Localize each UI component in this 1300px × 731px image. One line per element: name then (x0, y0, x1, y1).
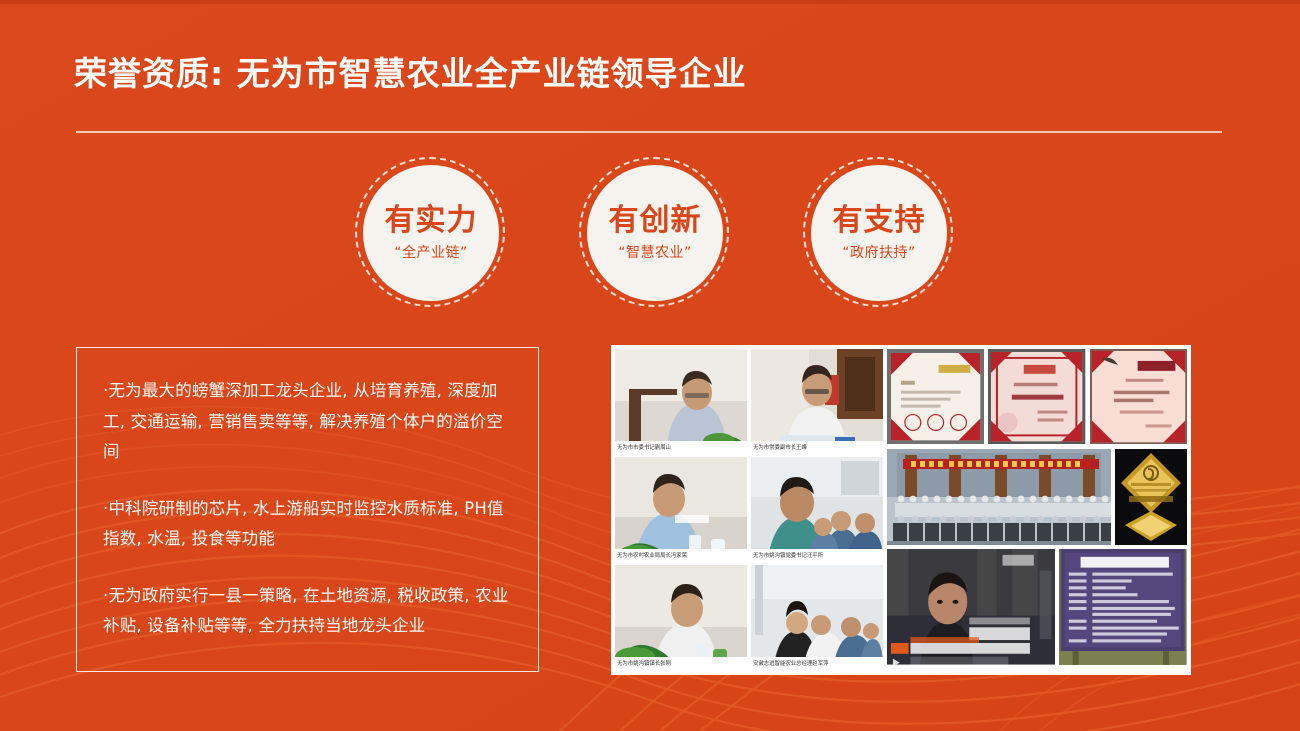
badge-title: 有支持 (833, 204, 926, 237)
official-photo-2[interactable]: 无为市常委副市长王峰 (751, 349, 883, 453)
badge-subtitle: “全产业链” (394, 242, 468, 262)
meeting-photo-icon (615, 457, 747, 561)
photo-caption: 无为市常委副市长王峰 (751, 441, 883, 454)
certificate-icon (887, 349, 984, 444)
highlights-panel: ·无为最大的螃蟹深加工龙头企业, 从培育养殖, 深度加工, 交通运输, 营销售卖… (76, 347, 539, 672)
photo-collage: 无为市市委书记蒯周山 无为市常委副市长王峰 (611, 345, 1191, 675)
certificate-icon (988, 349, 1085, 444)
official-photo-3[interactable]: 无为市农村农业局局长冯家荣 (615, 457, 747, 561)
tv-clip-icon (887, 549, 1055, 665)
badge-group: 有实力 “全产业链” 有创新 “智慧农业” 有支持 “政府扶持” (355, 157, 955, 307)
meeting-photo-icon (751, 349, 883, 453)
meeting-photo-icon (615, 565, 747, 669)
awards-column (887, 349, 1187, 671)
group-trophy-row (887, 449, 1187, 545)
poverty-alleviation-board[interactable] (1059, 549, 1187, 671)
certificate-1[interactable] (887, 349, 984, 445)
official-photo-5[interactable]: 无为市姚沟镇镇长张刚 (615, 565, 747, 669)
official-photo-6[interactable]: 安徽志进智能农业总经理赵军萍 (751, 565, 883, 669)
photo-caption: 无为市姚沟镇党委书记汪平所 (751, 549, 883, 562)
badge-disc: 有实力 “全产业链” (363, 165, 499, 301)
info-board-icon (1059, 549, 1187, 665)
badge-innovation[interactable]: 有创新 “智慧农业” (579, 157, 731, 309)
photo-caption: 无为市姚沟镇镇长张刚 (615, 657, 747, 670)
company-group-photo[interactable] (887, 449, 1111, 545)
trophy-icon (1115, 449, 1187, 545)
badge-disc: 有创新 “智慧农业” (587, 165, 723, 301)
certificate-icon (1090, 349, 1187, 444)
certificate-3[interactable] (1090, 349, 1187, 445)
group-photo-icon (887, 449, 1111, 545)
badge-disc: 有支持 “政府扶持” (811, 165, 947, 301)
photo-caption: 安徽志进智能农业总经理赵军萍 (751, 657, 883, 670)
highlight-paragraph-3: ·无为政府实行一县一策略, 在土地资源, 税收政策, 农业补贴, 设备补贴等等,… (103, 581, 512, 642)
official-photo-4[interactable]: 无为市姚沟镇党委书记汪平所 (751, 457, 883, 561)
page-title: 荣誉资质: 无为市智慧农业全产业链领导企业 (74, 54, 747, 94)
media-row (887, 549, 1187, 671)
certificate-row (887, 349, 1187, 445)
group-visit-photo-icon (751, 457, 883, 561)
officials-column: 无为市市委书记蒯周山 无为市常委副市长王峰 (615, 349, 883, 671)
photo-caption: 无为市市委书记蒯周山 (615, 441, 747, 454)
official-photo-1[interactable]: 无为市市委书记蒯周山 (615, 349, 747, 453)
meeting-photo-icon (615, 349, 747, 453)
badge-subtitle: “政府扶持” (842, 242, 916, 262)
facility-tour-photo-icon (751, 565, 883, 669)
highlight-paragraph-2: ·中科院研制的芯片, 水上游船实时监控水质标准, PH值指数, 水温, 投食等功… (103, 494, 512, 555)
badge-support[interactable]: 有支持 “政府扶持” (803, 157, 955, 309)
tv-interview-clip[interactable] (887, 549, 1055, 671)
certificate-2[interactable] (988, 349, 1085, 445)
badge-title: 有创新 (609, 204, 702, 237)
highlight-paragraph-1: ·无为最大的螃蟹深加工龙头企业, 从培育养殖, 深度加工, 交通运输, 营销售卖… (103, 376, 512, 468)
officials-row: 无为市市委书记蒯周山 无为市常委副市长王峰 (615, 349, 883, 453)
badge-title: 有实力 (385, 204, 478, 237)
badge-strength[interactable]: 有实力 “全产业链” (355, 157, 507, 309)
badge-subtitle: “智慧农业” (618, 242, 692, 262)
officials-row: 无为市农村农业局局长冯家荣 无为市姚沟镇党委书记汪平所 (615, 457, 883, 561)
page-header: 荣誉资质: 无为市智慧农业全产业链领导企业 (74, 54, 747, 94)
officials-row: 无为市姚沟镇镇长张刚 安徽志进智能农业总经理赵军萍 (615, 565, 883, 669)
photo-caption: 无为市农村农业局局长冯家荣 (615, 549, 747, 562)
partner-trophy[interactable] (1115, 449, 1187, 545)
header-divider (76, 131, 1222, 133)
top-edge-strip (0, 0, 1300, 4)
